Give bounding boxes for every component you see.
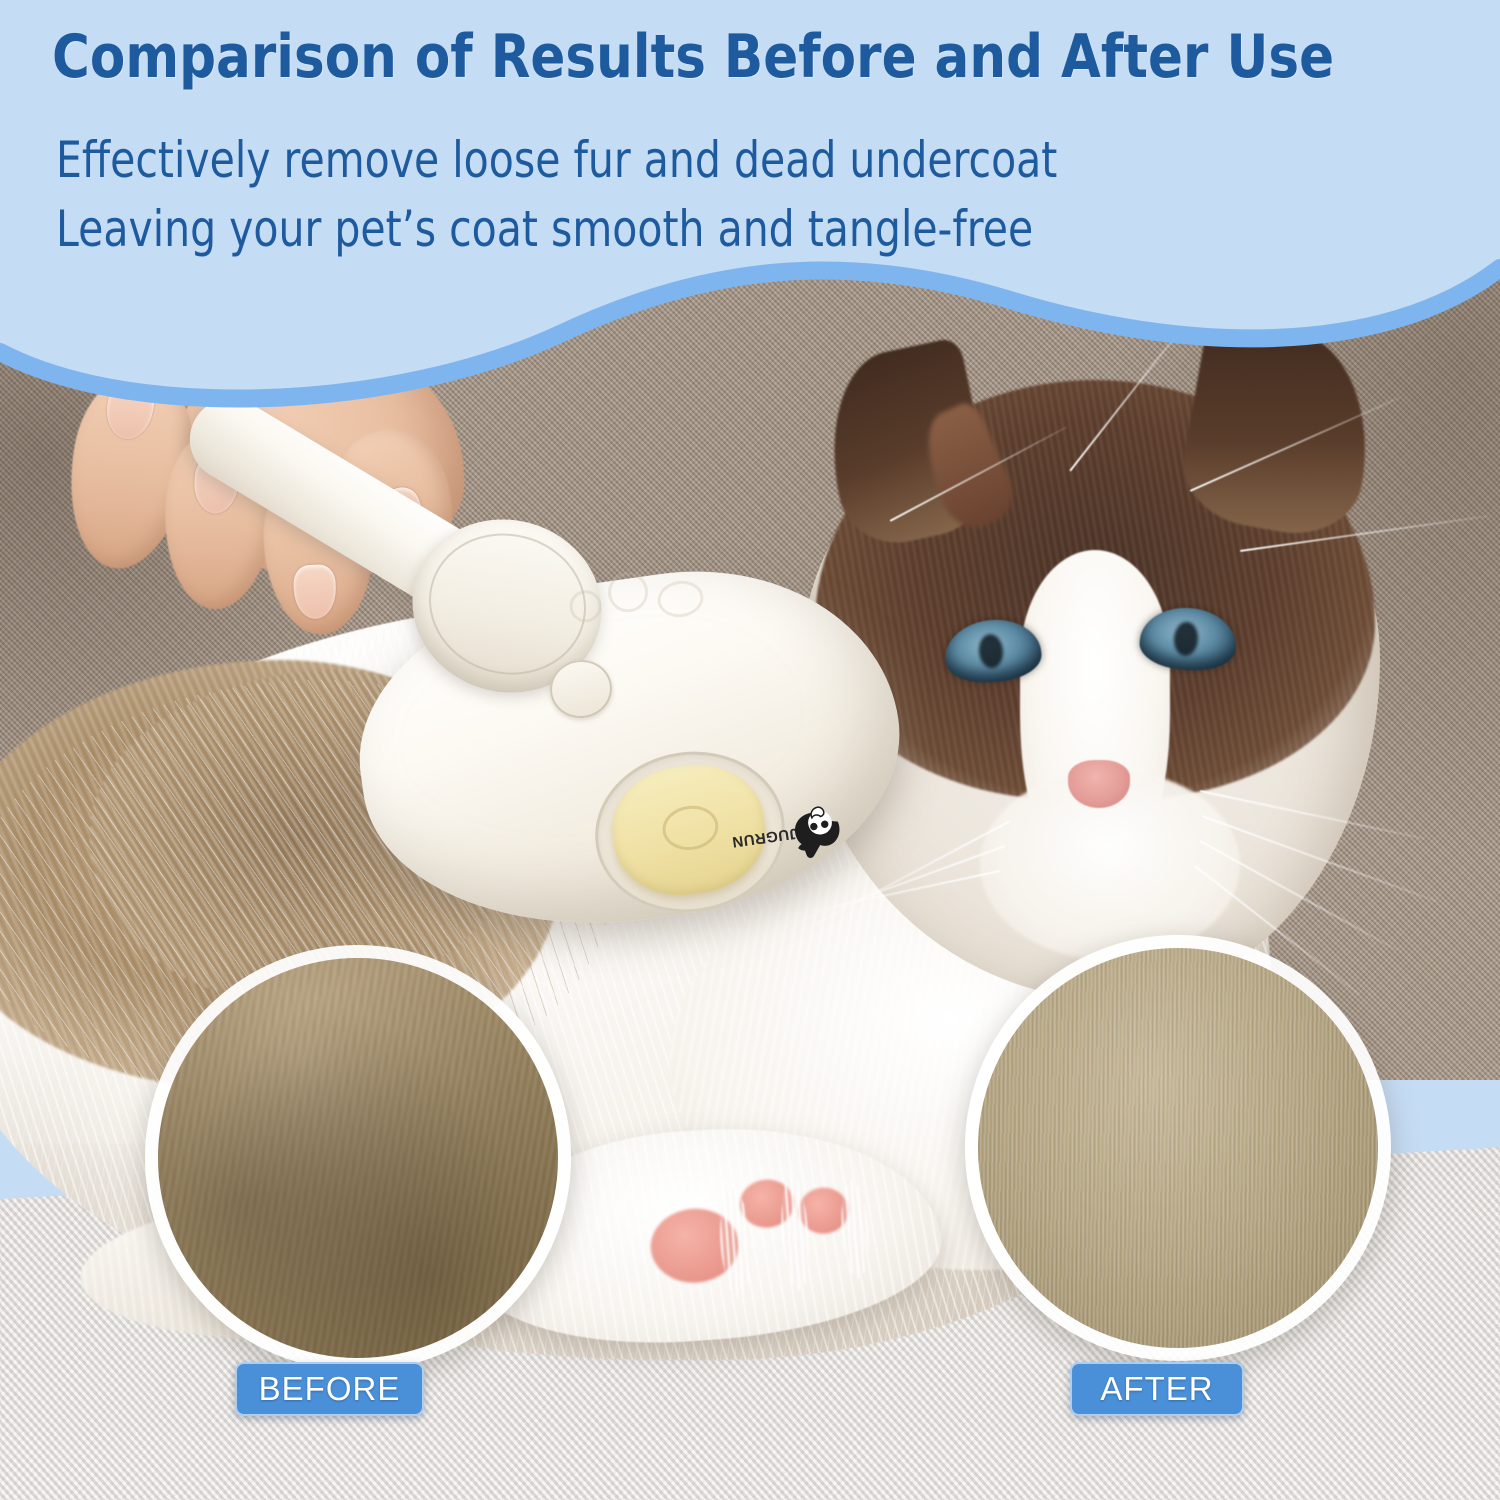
before-badge: BEFORE <box>235 1362 424 1416</box>
after-fur-closeup <box>965 935 1391 1361</box>
before-zoom-circle <box>145 945 571 1371</box>
grooming-brush-device[interactable]: JUGRUN <box>240 430 940 970</box>
product-photo: JUGRUN BEFORE AFTER <box>0 0 1500 1500</box>
before-fur-closeup <box>145 945 571 1371</box>
promo-graphic: JUGRUN BEFORE AFTER <box>0 0 1500 1500</box>
dog-icon <box>776 789 860 873</box>
after-zoom-circle <box>965 935 1391 1361</box>
after-badge: AFTER <box>1070 1362 1244 1416</box>
cat-toe-tuft <box>839 1179 872 1281</box>
brand-logo: JUGRUN <box>734 782 866 894</box>
